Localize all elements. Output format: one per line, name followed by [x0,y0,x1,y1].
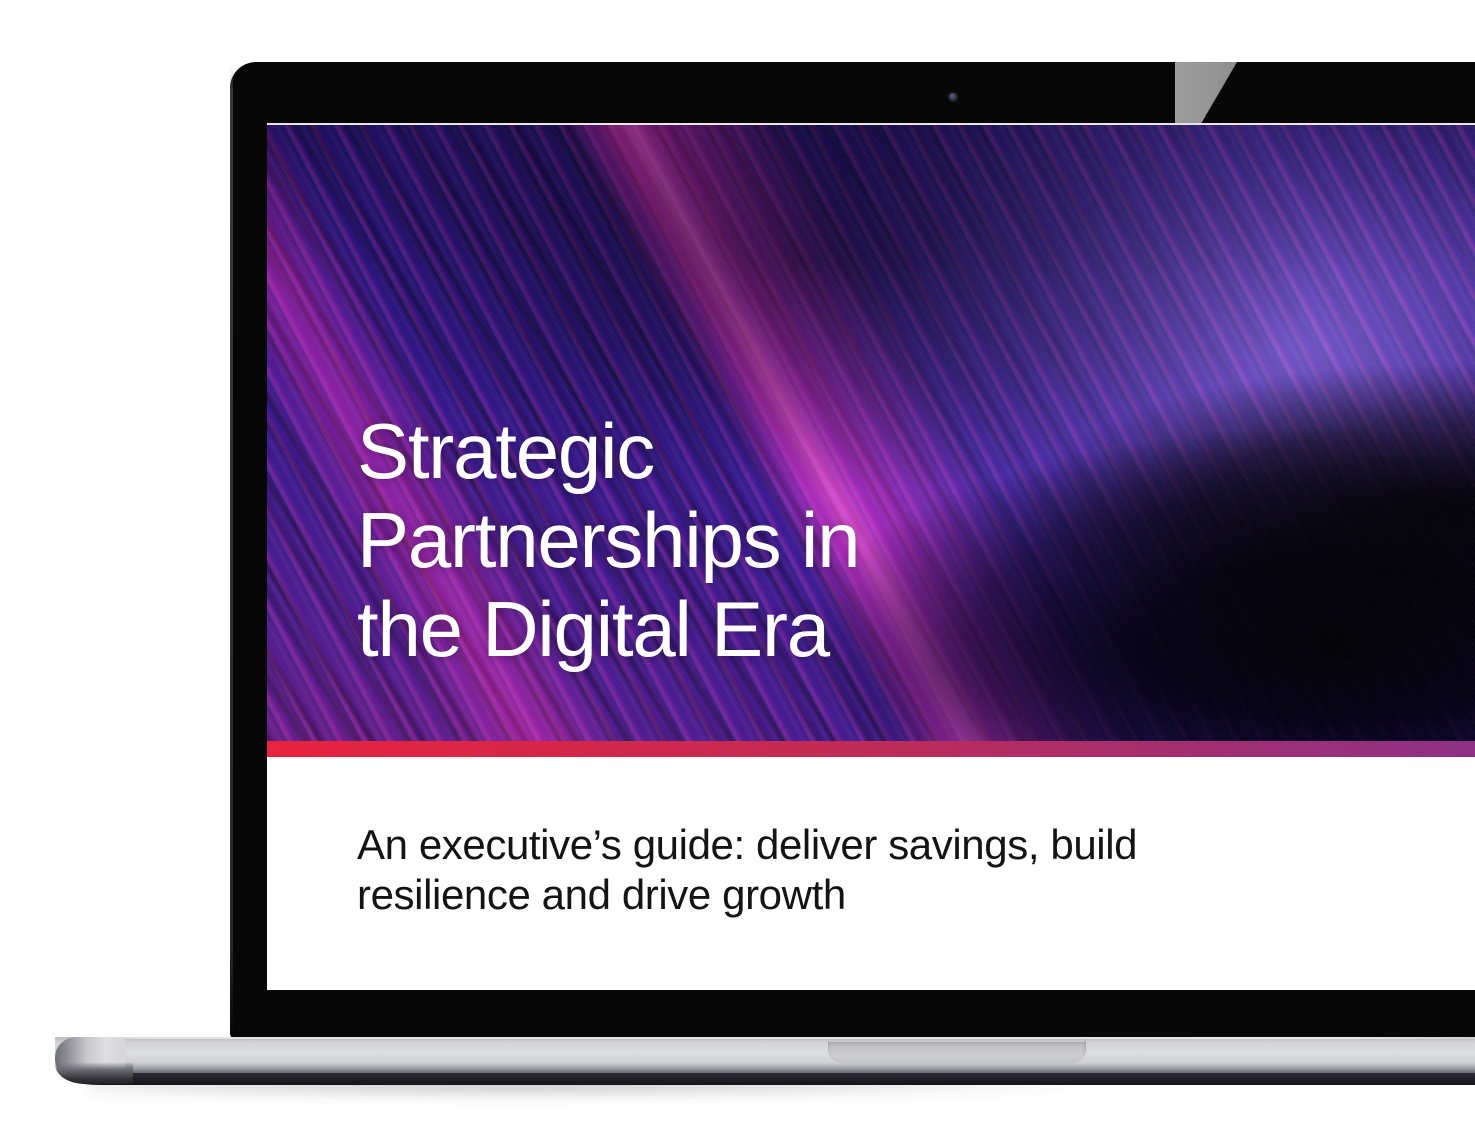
screen-content: Strategic Partnerships in the Digital Er… [267,125,1475,990]
webcam-icon [949,93,957,101]
slide-title: Strategic Partnerships in the Digital Er… [357,407,1177,674]
laptop-base-left-cap-shadow [55,1062,133,1084]
hero-image: Strategic Partnerships in the Digital Er… [267,125,1475,741]
laptop-device: Strategic Partnerships in the Digital Er… [0,0,1475,1131]
slide-lower-panel: An executive’s guide: deliver savings, b… [267,757,1475,990]
laptop-base-bottom-rim [60,1073,1475,1085]
laptop-base-notch-highlight [828,1039,1086,1042]
slide-subtitle: An executive’s guide: deliver savings, b… [357,820,1237,920]
bezel-left-edge-highlight [230,62,233,1038]
laptop-base-top-highlight [55,1037,1475,1039]
screenshot-stage: Strategic Partnerships in the Digital Er… [0,0,1475,1131]
laptop-base-finger-notch [828,1039,1086,1063]
gradient-accent-bar [267,741,1475,757]
